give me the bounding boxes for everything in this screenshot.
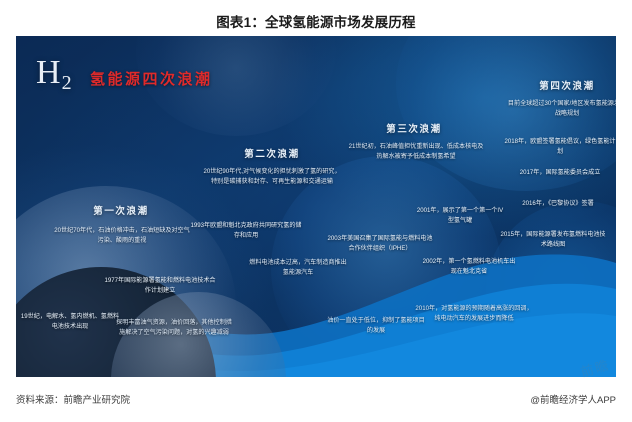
source-label: 资料来源：前瞻产业研究院 [16, 392, 130, 406]
event-2003: 2003年美国召集了国际氢能与燃料电池合作伙伴组织（IPHE） [326, 234, 434, 254]
page-title: 图表1：全球氢能源市场发展历程 [0, 11, 632, 31]
note-second-decline: 燃料电池成本过高，汽车制造商推出氢能源汽车 [248, 258, 348, 278]
wave-2-description: 20世纪90年代,对气候变化的担忧刺激了氢的研究，特别是碳捕获和封存、可再生能源… [202, 167, 342, 187]
wave-3-description: 21世纪初，石油峰值担忧重新出现、低成本核电及热解水被寄予低成本制氢希望 [346, 142, 486, 162]
event-1977: 1977年国际能源署氢能和燃料电池技术合作计划建立 [104, 276, 216, 296]
note-2010: 2010年，对氢能源的预期随着高涨的回调，纯电动汽车的发展进步而降低 [414, 304, 534, 324]
wave-3-title: 第三次浪潮 [354, 121, 474, 135]
event-2018: 2018年，欧盟签署氢能倡议，绿色氢能计划 [504, 137, 616, 157]
h2-logo: H2 [36, 56, 73, 93]
wave-2-title: 第二次浪潮 [212, 146, 332, 160]
event-1993: 1993年欧盟和魁北克政府共同研究氢的储存和应用 [190, 221, 302, 241]
wave-4-description: 目前全球超过30个国家/地区发布氢能源发展战略规划 [506, 99, 616, 119]
note-third-decline: 油价一直处于低位，抑制了氢能项目的发展 [326, 316, 426, 336]
event-19th-century: 19世纪，电解水、氢内燃机、氢燃料电池技术出现 [18, 312, 122, 332]
wave-1-title: 第一次浪潮 [61, 203, 181, 217]
event-2002: 2002年，第一个氢燃料电池机车出现在魁北克省 [420, 257, 518, 277]
event-2016: 2016年，《巴黎协议》签署 [506, 199, 610, 209]
event-2015: 2015年，国际能源署发布氢燃料电池技术路线图 [498, 230, 608, 250]
infographic-canvas: H2 氢能源四次浪潮 第一次浪潮 20世纪70年代，石油价格冲击，石油短缺及对空… [16, 36, 616, 377]
h2-logo-symbol: H [36, 54, 62, 91]
wave-4-title: 第四次浪潮 [512, 78, 616, 92]
h2-logo-subscript: 2 [62, 72, 73, 94]
infographic-page: 图表1：全球氢能源市场发展历程 H2 氢能源四次浪潮 第一次浪潮 20世纪70年… [0, 0, 632, 422]
headline: 氢能源四次浪潮 [90, 68, 213, 89]
event-2001: 2001年，展示了第一个第一个IV型氢气罐 [414, 206, 506, 226]
note-first-decline: 探明丰富油气资源，油价回落，其他控制措施解决了空气污染问题，对氢的兴趣减弱 [116, 318, 232, 338]
account-label: @前瞻经济学人APP [530, 392, 616, 406]
event-2017: 2017年，国际氢能委员会成立 [508, 168, 612, 178]
wave-1-description: 20世纪70年代，石油价格冲击，石油短缺及对空气污染、酸雨的重视 [52, 226, 192, 246]
